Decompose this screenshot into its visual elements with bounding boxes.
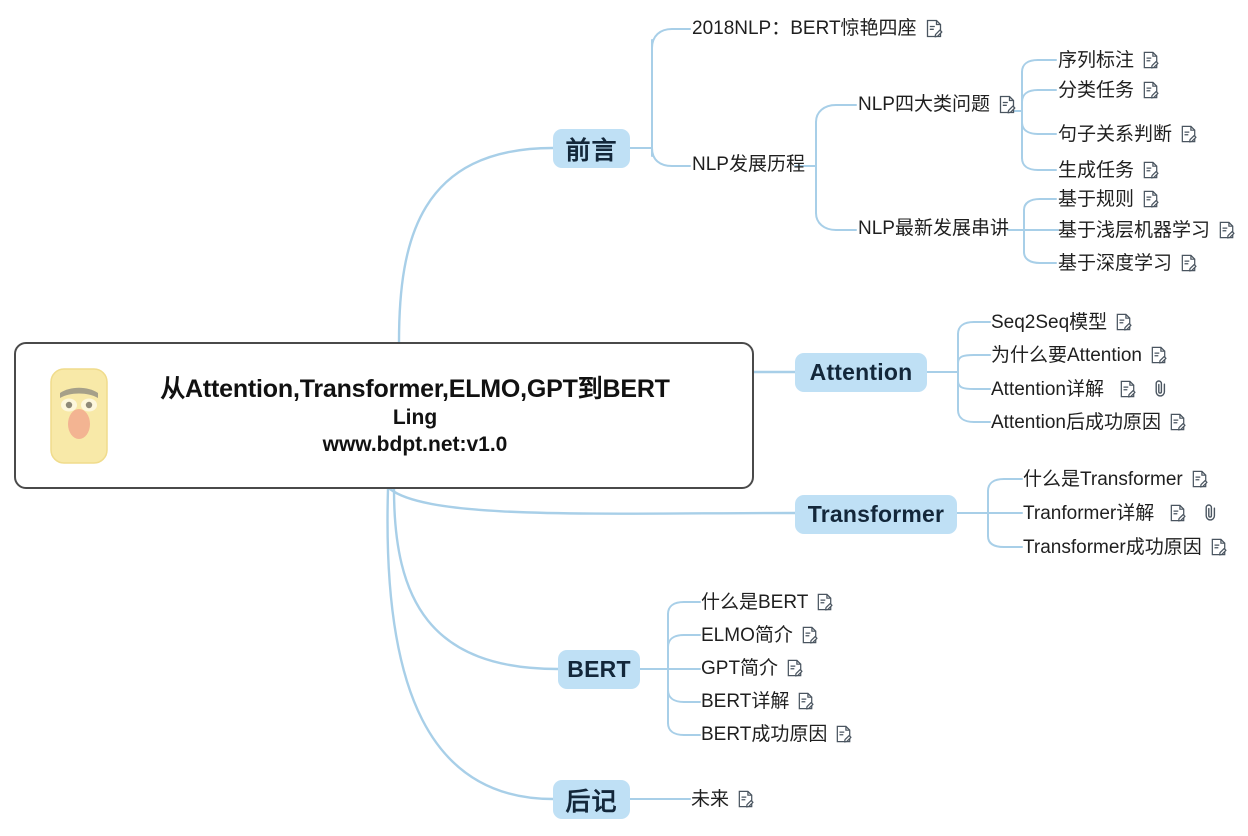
node-label: 基于浅层机器学习 — [1058, 221, 1210, 240]
note-document-icon[interactable] — [1209, 537, 1229, 557]
note-document-icon[interactable] — [1118, 379, 1138, 399]
node-generation-task[interactable]: 生成任务 — [1058, 160, 1161, 180]
note-document-icon[interactable] — [924, 18, 945, 39]
note-document-icon[interactable] — [1168, 503, 1188, 523]
node-elmo-intro[interactable]: ELMO简介 — [701, 625, 820, 645]
node-nlp-four-problems[interactable]: NLP四大类问题 — [858, 94, 1018, 115]
node-what-is-transformer[interactable]: 什么是Transformer — [1023, 469, 1210, 489]
node-gpt-intro[interactable]: GPT简介 — [701, 658, 805, 678]
note-document-icon[interactable] — [1217, 220, 1237, 240]
root-author: Ling — [108, 405, 722, 432]
node-attention-success[interactable]: Attention后成功原因 — [991, 412, 1188, 432]
node-label: NLP四大类问题 — [858, 95, 990, 114]
node-transformer-success[interactable]: Transformer成功原因 — [1023, 537, 1229, 557]
note-document-icon[interactable] — [1190, 469, 1210, 489]
note-document-icon[interactable] — [1179, 253, 1199, 273]
note-document-icon[interactable] — [1141, 160, 1161, 180]
node-label: 为什么要Attention — [991, 346, 1142, 365]
note-document-icon[interactable] — [997, 94, 1018, 115]
branch-transformer-label: Transformer — [808, 501, 944, 528]
node-future[interactable]: 未来 — [691, 789, 756, 809]
note-document-icon[interactable] — [1149, 345, 1169, 365]
node-sequence-labeling[interactable]: 序列标注 — [1058, 50, 1161, 70]
node-why-attention[interactable]: 为什么要Attention — [991, 345, 1169, 365]
node-label: GPT简介 — [701, 659, 778, 678]
node-label: Seq2Seq模型 — [991, 313, 1107, 332]
branch-attention[interactable]: Attention — [795, 353, 927, 392]
node-label: 句子关系判断 — [1058, 125, 1172, 144]
node-classification-task[interactable]: 分类任务 — [1058, 80, 1161, 100]
node-label: BERT详解 — [701, 692, 789, 711]
node-seq2seq-model[interactable]: Seq2Seq模型 — [991, 312, 1134, 332]
node-attention-detail[interactable]: Attention详解 — [991, 379, 1170, 399]
node-transformer-detail[interactable]: Tranformer详解 — [1023, 503, 1220, 523]
node-label: 基于规则 — [1058, 190, 1134, 209]
root-title: 从Attention,Transformer,ELMO,GPT到BERT — [108, 373, 722, 405]
branch-preface-label: 前言 — [565, 131, 617, 167]
node-label: BERT成功原因 — [701, 725, 827, 744]
node-label: 基于深度学习 — [1058, 254, 1172, 273]
node-label: 未来 — [691, 790, 729, 809]
note-document-icon[interactable] — [1179, 124, 1199, 144]
note-document-icon[interactable] — [796, 691, 816, 711]
node-nlp-history[interactable]: NLP发展历程 — [692, 155, 805, 174]
node-what-is-bert[interactable]: 什么是BERT — [701, 592, 835, 612]
note-document-icon[interactable] — [834, 724, 854, 744]
note-document-icon[interactable] — [815, 592, 835, 612]
node-label: 什么是BERT — [701, 593, 808, 612]
branch-epilogue-label: 后记 — [565, 782, 617, 818]
node-bert-detail[interactable]: BERT详解 — [701, 691, 816, 711]
branch-attention-label: Attention — [810, 359, 913, 386]
node-rule-based[interactable]: 基于规则 — [1058, 189, 1161, 209]
node-label: Tranformer详解 — [1023, 504, 1154, 523]
note-document-icon[interactable] — [736, 789, 756, 809]
branch-transformer[interactable]: Transformer — [795, 495, 957, 534]
note-document-icon[interactable] — [785, 658, 805, 678]
node-sentence-relation[interactable]: 句子关系判断 — [1058, 124, 1199, 144]
node-shallow-ml[interactable]: 基于浅层机器学习 — [1058, 220, 1237, 240]
node-label: NLP最新发展串讲 — [858, 219, 1009, 238]
node-label: NLP发展历程 — [692, 155, 805, 174]
node-2018nlp-bert[interactable]: 2018NLP：BERT惊艳四座 — [692, 18, 945, 39]
note-document-icon[interactable] — [1168, 412, 1188, 432]
paperclip-attachment-icon[interactable] — [1152, 379, 1170, 399]
smiley-face-icon — [50, 368, 108, 464]
note-document-icon[interactable] — [1141, 50, 1161, 70]
branch-bert-label: BERT — [567, 656, 630, 683]
node-label: 分类任务 — [1058, 81, 1134, 100]
root-site: www.bdpt.net:v1.0 — [108, 432, 722, 459]
note-document-icon[interactable] — [1114, 312, 1134, 332]
node-label: ELMO简介 — [701, 626, 793, 645]
branch-bert[interactable]: BERT — [558, 650, 640, 689]
node-label: Transformer成功原因 — [1023, 538, 1202, 557]
note-document-icon[interactable] — [800, 625, 820, 645]
node-label: 什么是Transformer — [1023, 470, 1183, 489]
node-label: Attention详解 — [991, 380, 1104, 399]
note-document-icon[interactable] — [1141, 80, 1161, 100]
node-label: 生成任务 — [1058, 161, 1134, 180]
node-bert-success[interactable]: BERT成功原因 — [701, 724, 854, 744]
node-deep-learning[interactable]: 基于深度学习 — [1058, 253, 1199, 273]
paperclip-attachment-icon[interactable] — [1202, 503, 1220, 523]
node-label: Attention后成功原因 — [991, 413, 1161, 432]
branch-preface[interactable]: 前言 — [553, 129, 630, 168]
branch-epilogue[interactable]: 后记 — [553, 780, 630, 819]
root-text-block: 从Attention,Transformer,ELMO,GPT到BERT Lin… — [108, 373, 752, 459]
mindmap-canvas: 从Attention,Transformer,ELMO,GPT到BERT Lin… — [0, 0, 1248, 836]
node-label: 2018NLP：BERT惊艳四座 — [692, 19, 917, 38]
node-label: 序列标注 — [1058, 51, 1134, 70]
root-node[interactable]: 从Attention,Transformer,ELMO,GPT到BERT Lin… — [14, 342, 754, 489]
node-nlp-latest[interactable]: NLP最新发展串讲 — [858, 219, 1009, 238]
note-document-icon[interactable] — [1141, 189, 1161, 209]
